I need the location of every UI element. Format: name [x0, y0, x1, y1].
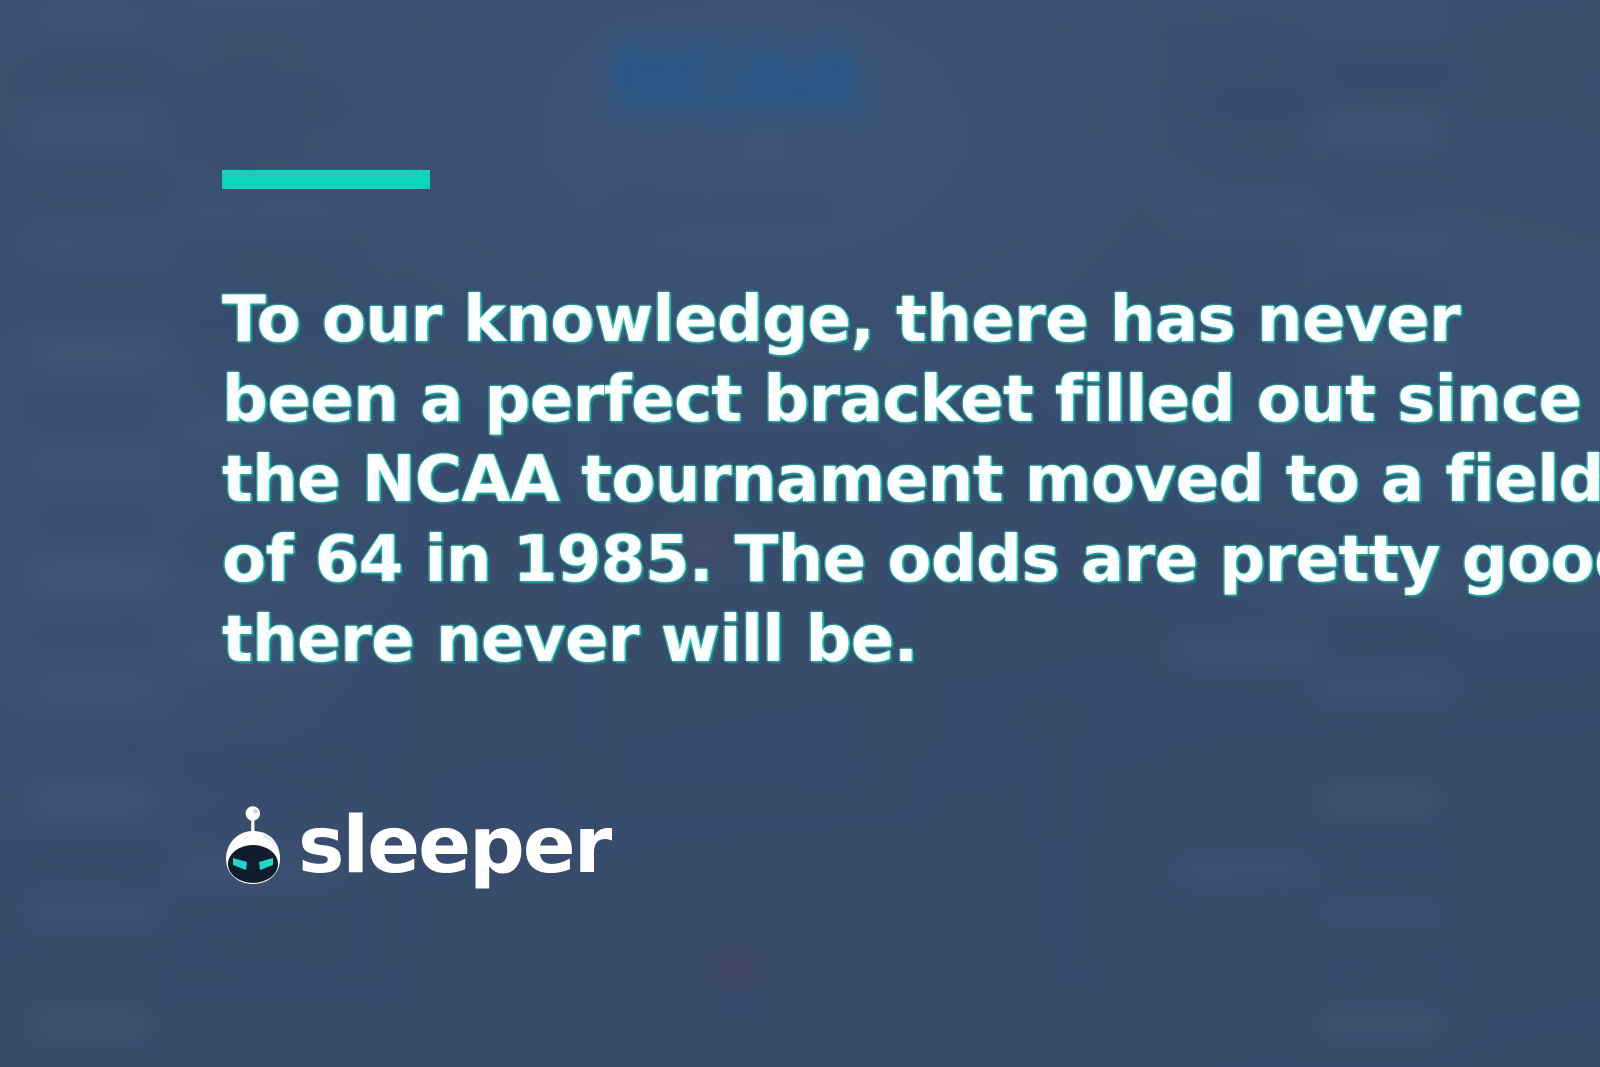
sleeper-logo: sleeper	[222, 796, 610, 888]
quote-line-4: of 64 in 1985. The odds are pretty good	[222, 520, 1422, 600]
quote-line-5: there never will be.	[222, 600, 1422, 680]
quote-line-1: To our knowledge, there has never	[222, 280, 1422, 360]
sleeper-robot-mascot-icon	[222, 798, 284, 886]
sleeper-wordmark: sleeper	[298, 807, 610, 885]
quote-text: To our knowledge, there has never been a…	[222, 280, 1422, 680]
quote-line-3: the NCAA tournament moved to a field	[222, 440, 1422, 520]
quote-line-2: been a perfect bracket filled out since	[222, 360, 1422, 440]
accent-bar	[222, 170, 430, 189]
quote-card: NCAA WHO IS YOUR PICK? To our knowledge,…	[0, 0, 1600, 1067]
card-content: To our knowledge, there has never been a…	[0, 0, 1600, 1067]
